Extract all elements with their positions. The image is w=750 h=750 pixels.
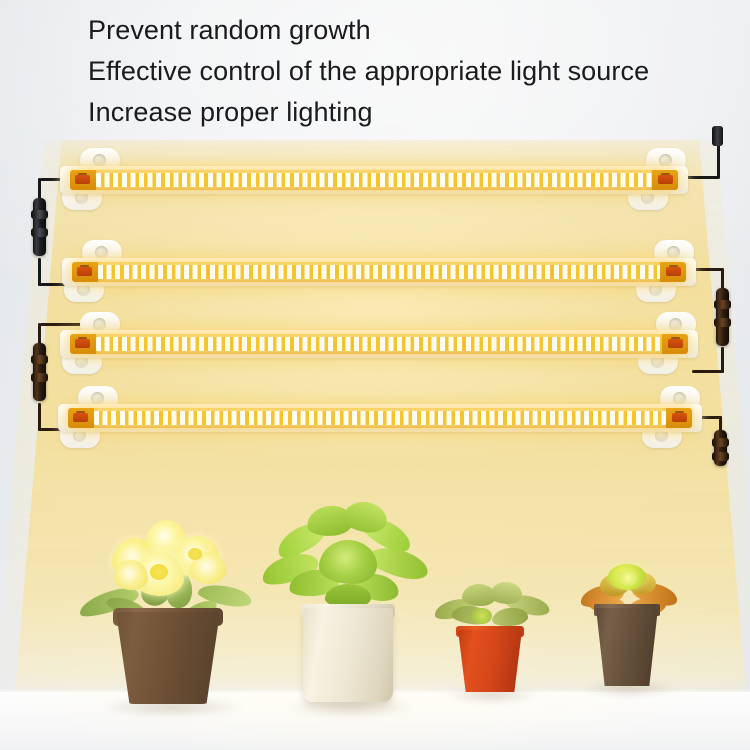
lead-wire-left — [76, 411, 85, 413]
pot-body — [303, 608, 393, 702]
led-chips — [94, 411, 666, 425]
plant-succulent — [596, 556, 660, 708]
lead-wire-right — [671, 337, 680, 339]
connector-right-middle — [716, 288, 729, 346]
led-strip — [70, 170, 678, 190]
connector-left-upper — [33, 198, 46, 256]
solder-pad-right — [666, 267, 681, 276]
lead-wire-right — [661, 173, 670, 175]
plug-top-right — [712, 126, 723, 146]
plug-bottom-right — [714, 430, 727, 466]
led-chips — [96, 173, 652, 187]
headline-line-3: Increase proper lighting — [88, 92, 748, 133]
pot-body — [116, 612, 220, 704]
solder-pad-left — [75, 339, 90, 348]
solder-pad-left — [77, 267, 92, 276]
headline-block: Prevent random growth Effective control … — [88, 10, 748, 133]
lead-wire-left — [78, 337, 87, 339]
headline-line-1: Prevent random growth — [88, 10, 748, 51]
led-chips — [98, 265, 660, 279]
lead-wire-right — [675, 411, 684, 413]
lead-wire-right — [669, 265, 678, 267]
plant-green-fern — [303, 498, 395, 706]
led-strip — [70, 334, 688, 354]
led-bar-3[interactable] — [60, 312, 698, 374]
plant-small-leafy — [458, 578, 524, 708]
led-bar-1[interactable] — [60, 148, 688, 210]
lead-wire-left — [80, 265, 89, 267]
solder-pad-right — [658, 175, 673, 184]
solder-pad-right — [672, 413, 687, 422]
led-bar-4[interactable] — [58, 386, 702, 448]
led-strip — [68, 408, 692, 428]
pot-body — [596, 608, 658, 686]
led-chips — [96, 337, 662, 351]
product-image-stage: Prevent random growth Effective control … — [0, 0, 750, 750]
headline-line-2: Effective control of the appropriate lig… — [88, 51, 748, 92]
lead-wire-left — [78, 173, 87, 175]
pot-body — [458, 630, 522, 692]
plant-yellow-flowering — [116, 500, 226, 700]
led-strip — [72, 262, 686, 282]
solder-pad-right — [668, 339, 683, 348]
solder-pad-left — [75, 175, 90, 184]
connector-left-lower — [33, 343, 46, 401]
solder-pad-left — [73, 413, 88, 422]
led-bar-2[interactable] — [62, 240, 696, 302]
